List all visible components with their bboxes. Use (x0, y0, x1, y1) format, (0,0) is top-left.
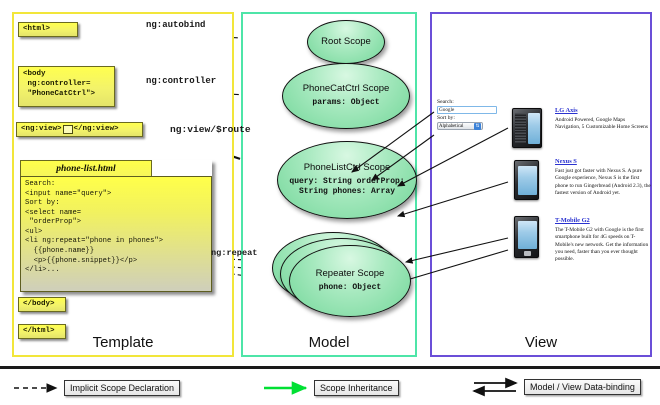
sort-label: Sort by: (437, 115, 499, 122)
scope-phonecatctrl-props: params: Object (312, 98, 379, 108)
chevron-updown-icon: ⇅ (474, 123, 481, 130)
html-open-tag: <html> (18, 22, 78, 37)
legend-label-implicit: Implicit Scope Declaration (64, 380, 180, 396)
phone-thumbnail-lg-axis (512, 108, 542, 148)
scope-phonecatctrl: PhoneCatCtrl Scope params: Object (282, 63, 410, 129)
legend-item-inheritance: Scope Inheritance (262, 380, 399, 396)
ng-view-close-label: </ng:view> (74, 124, 119, 134)
phone-list-partial-title: phone-list.html (20, 160, 152, 177)
body-close-tag: </body> (18, 297, 66, 312)
phone-entry-nexus-s: Nexus S Fast just got faster with Nexus … (555, 158, 651, 197)
label-ng-view-route: ng:view/$route (170, 124, 251, 135)
label-ng-controller: ng:controller (146, 76, 216, 86)
phone-thumbnail-nexus-s (514, 160, 539, 200)
phone-name-link[interactable]: Nexus S (555, 158, 651, 166)
legend: Implicit Scope Declaration Scope Inherit… (0, 372, 660, 405)
phone-name-link[interactable]: LG Axis (555, 107, 651, 115)
legend-separator (0, 366, 660, 369)
scope-phonelistctrl: PhoneListCtrl Scope query: String orderP… (277, 141, 417, 219)
diagram-canvas: Template Model View <html> <body ng:cont… (0, 0, 660, 405)
scope-phonelistctrl-props: query: String orderProp: String phones: … (278, 177, 416, 197)
legend-label-inheritance: Scope Inheritance (314, 380, 399, 396)
label-ng-autobind: ng:autobind (146, 20, 205, 30)
double-arrow-icon (472, 377, 524, 397)
green-arrow-icon (262, 381, 314, 395)
scope-repeater-props: phone: Object (319, 283, 381, 293)
scope-repeater: Repeater Scope phone: Object (289, 245, 411, 317)
sort-select[interactable]: Alphabetical ⇅ (437, 122, 483, 130)
legend-label-databinding: Model / View Data-binding (524, 379, 641, 395)
view-search-controls: Search: Google Sort by: Alphabetical ⇅ (437, 99, 499, 130)
legend-item-implicit: Implicit Scope Declaration (12, 380, 180, 396)
column-view-label: View (432, 334, 650, 351)
legend-item-databinding: Model / View Data-binding (472, 377, 641, 397)
ng-view-slot-icon (63, 125, 73, 134)
phone-entry-lg-axis: LG Axis Android Powered, Google Maps Nav… (555, 107, 651, 132)
phone-snippet: The T-Mobile G2 with Google is the first… (555, 227, 651, 263)
sort-select-value: Alphabetical (439, 124, 464, 129)
phone-list-partial-code: Search: <input name="query"> Sort by: <s… (20, 176, 212, 292)
phone-name-link[interactable]: T-Mobile G2 (555, 217, 651, 225)
body-open-tag: <body ng:controller= "PhoneCatCtrl"> (18, 66, 115, 107)
ng-view-tag: <ng:view></ng:view> (16, 122, 143, 137)
phone-snippet: Android Powered, Google Maps Navigation,… (555, 117, 651, 132)
phone-snippet: Fast just got faster with Nexus S. A pur… (555, 168, 651, 197)
phone-thumbnail-t-mobile-g2 (514, 216, 539, 258)
scope-repeater-name: Repeater Scope (316, 269, 385, 280)
scope-phonecatctrl-name: PhoneCatCtrl Scope (303, 84, 390, 95)
dashed-arrow-icon (12, 381, 64, 395)
column-model-label: Model (243, 334, 415, 351)
scope-root-name: Root Scope (321, 37, 371, 48)
scope-phonelistctrl-name: PhoneListCtrl Scope (304, 163, 391, 174)
scope-root: Root Scope (307, 20, 385, 64)
label-ng-repeat: ng:repeat (211, 248, 257, 258)
search-input[interactable]: Google (437, 106, 497, 114)
phone-entry-t-mobile-g2: T-Mobile G2 The T-Mobile G2 with Google … (555, 217, 651, 263)
search-label: Search: (437, 99, 499, 106)
phone-list-partial: phone-list.html Search: <input name="que… (20, 160, 212, 292)
ng-view-open-label: <ng:view> (21, 124, 62, 134)
html-close-tag: </html> (18, 324, 66, 339)
